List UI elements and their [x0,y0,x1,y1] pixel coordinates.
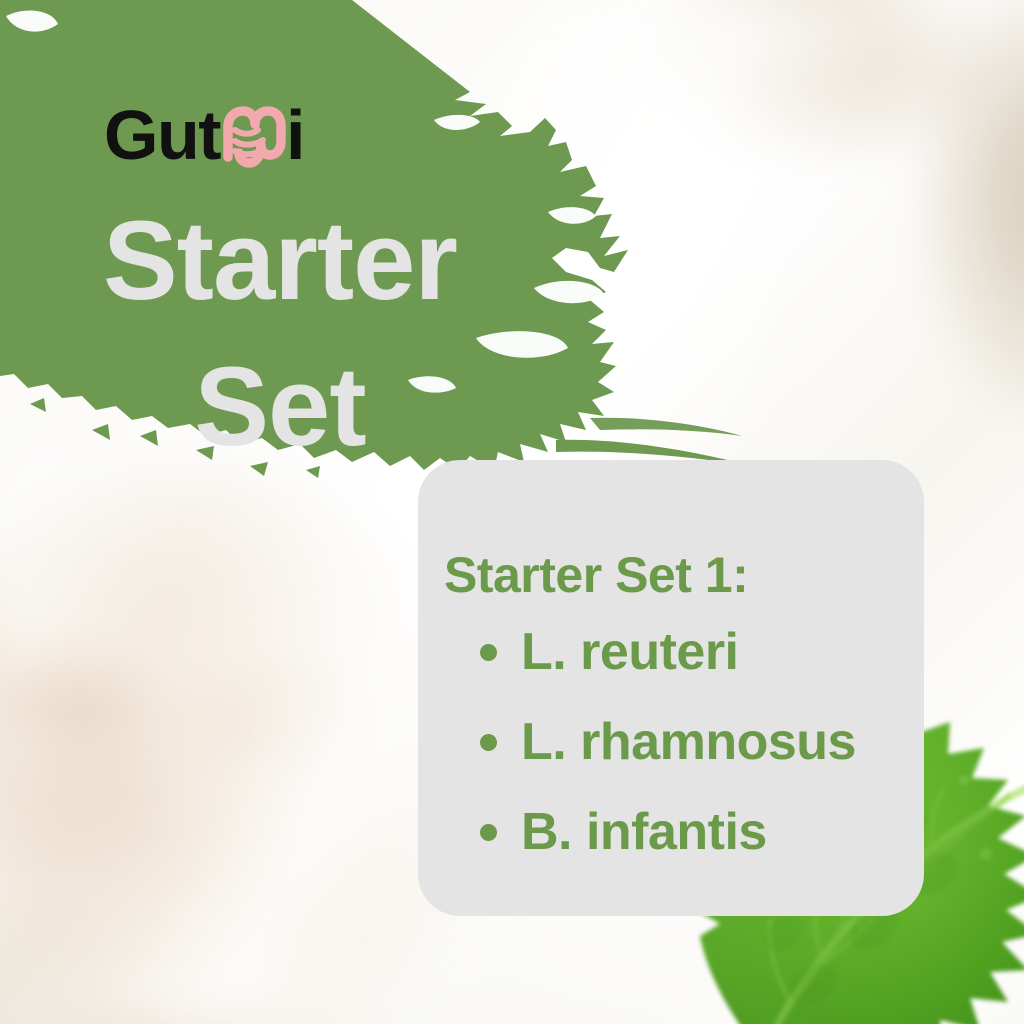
strain-label: L. reuteri [521,626,739,678]
headline-line-2: Set [0,334,560,480]
card-heading: Starter Set 1: [444,550,748,600]
strain-label: B. infantis [521,806,767,858]
logo-text-gut: Gut [104,100,220,170]
list-item: B. infantis [480,806,914,858]
bullet-icon [480,644,497,661]
strain-label: L. rhamnosus [521,716,856,768]
strain-list: L. reuteri L. rhamnosus B. infantis [480,626,914,858]
list-item: L. rhamnosus [480,716,914,768]
list-item: L. reuteri [480,626,914,678]
poster-canvas: Gut i Starter Set Start [0,0,1024,1024]
brand-logo: Gut i [104,96,304,174]
bullet-icon [480,734,497,751]
bullet-icon [480,824,497,841]
intestine-icon [218,101,290,173]
page-title: Starter Set [0,188,560,479]
headline-line-1: Starter [0,188,560,334]
starter-set-card: Starter Set 1: L. reuteri L. rhamnosus B… [418,460,924,916]
